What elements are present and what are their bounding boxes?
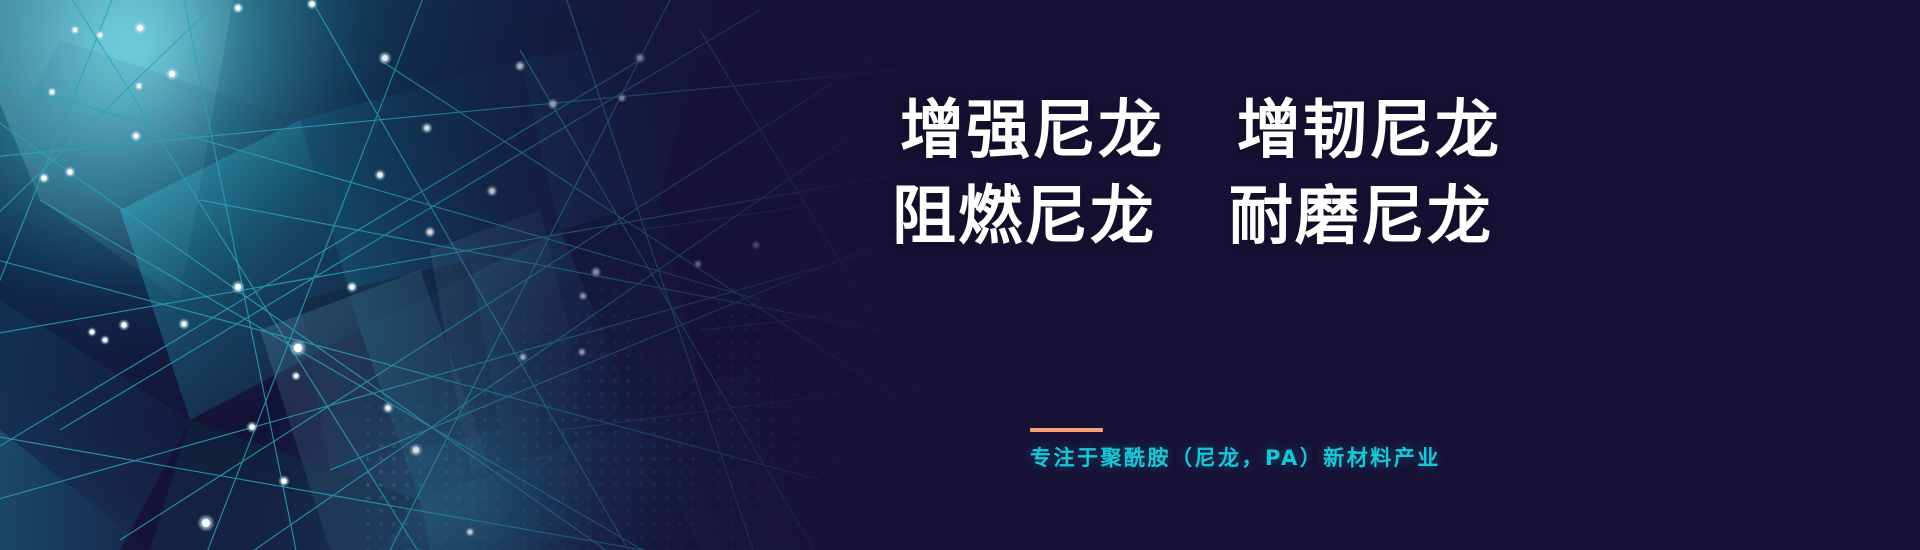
headline-block: 增强尼龙 增韧尼龙 阻燃尼龙 耐磨尼龙 bbox=[900, 88, 1760, 260]
headline-line-1: 增强尼龙 增韧尼龙 bbox=[900, 88, 1760, 174]
tagline-text: 专注于聚酰胺（尼龙，PA）新材料产业 bbox=[1030, 444, 1650, 472]
hero-banner: 增强尼龙 增韧尼龙 阻燃尼龙 耐磨尼龙 专注于聚酰胺（尼龙，PA）新材料产业 bbox=[0, 0, 1920, 550]
tagline-block: 专注于聚酰胺（尼龙，PA）新材料产业 bbox=[1030, 428, 1650, 472]
headline-line-2: 阻燃尼龙 耐磨尼龙 bbox=[892, 174, 1760, 260]
tagline-divider-rule bbox=[1030, 428, 1103, 432]
banner-content: 增强尼龙 增韧尼龙 阻燃尼龙 耐磨尼龙 专注于聚酰胺（尼龙，PA）新材料产业 bbox=[900, 0, 1760, 550]
